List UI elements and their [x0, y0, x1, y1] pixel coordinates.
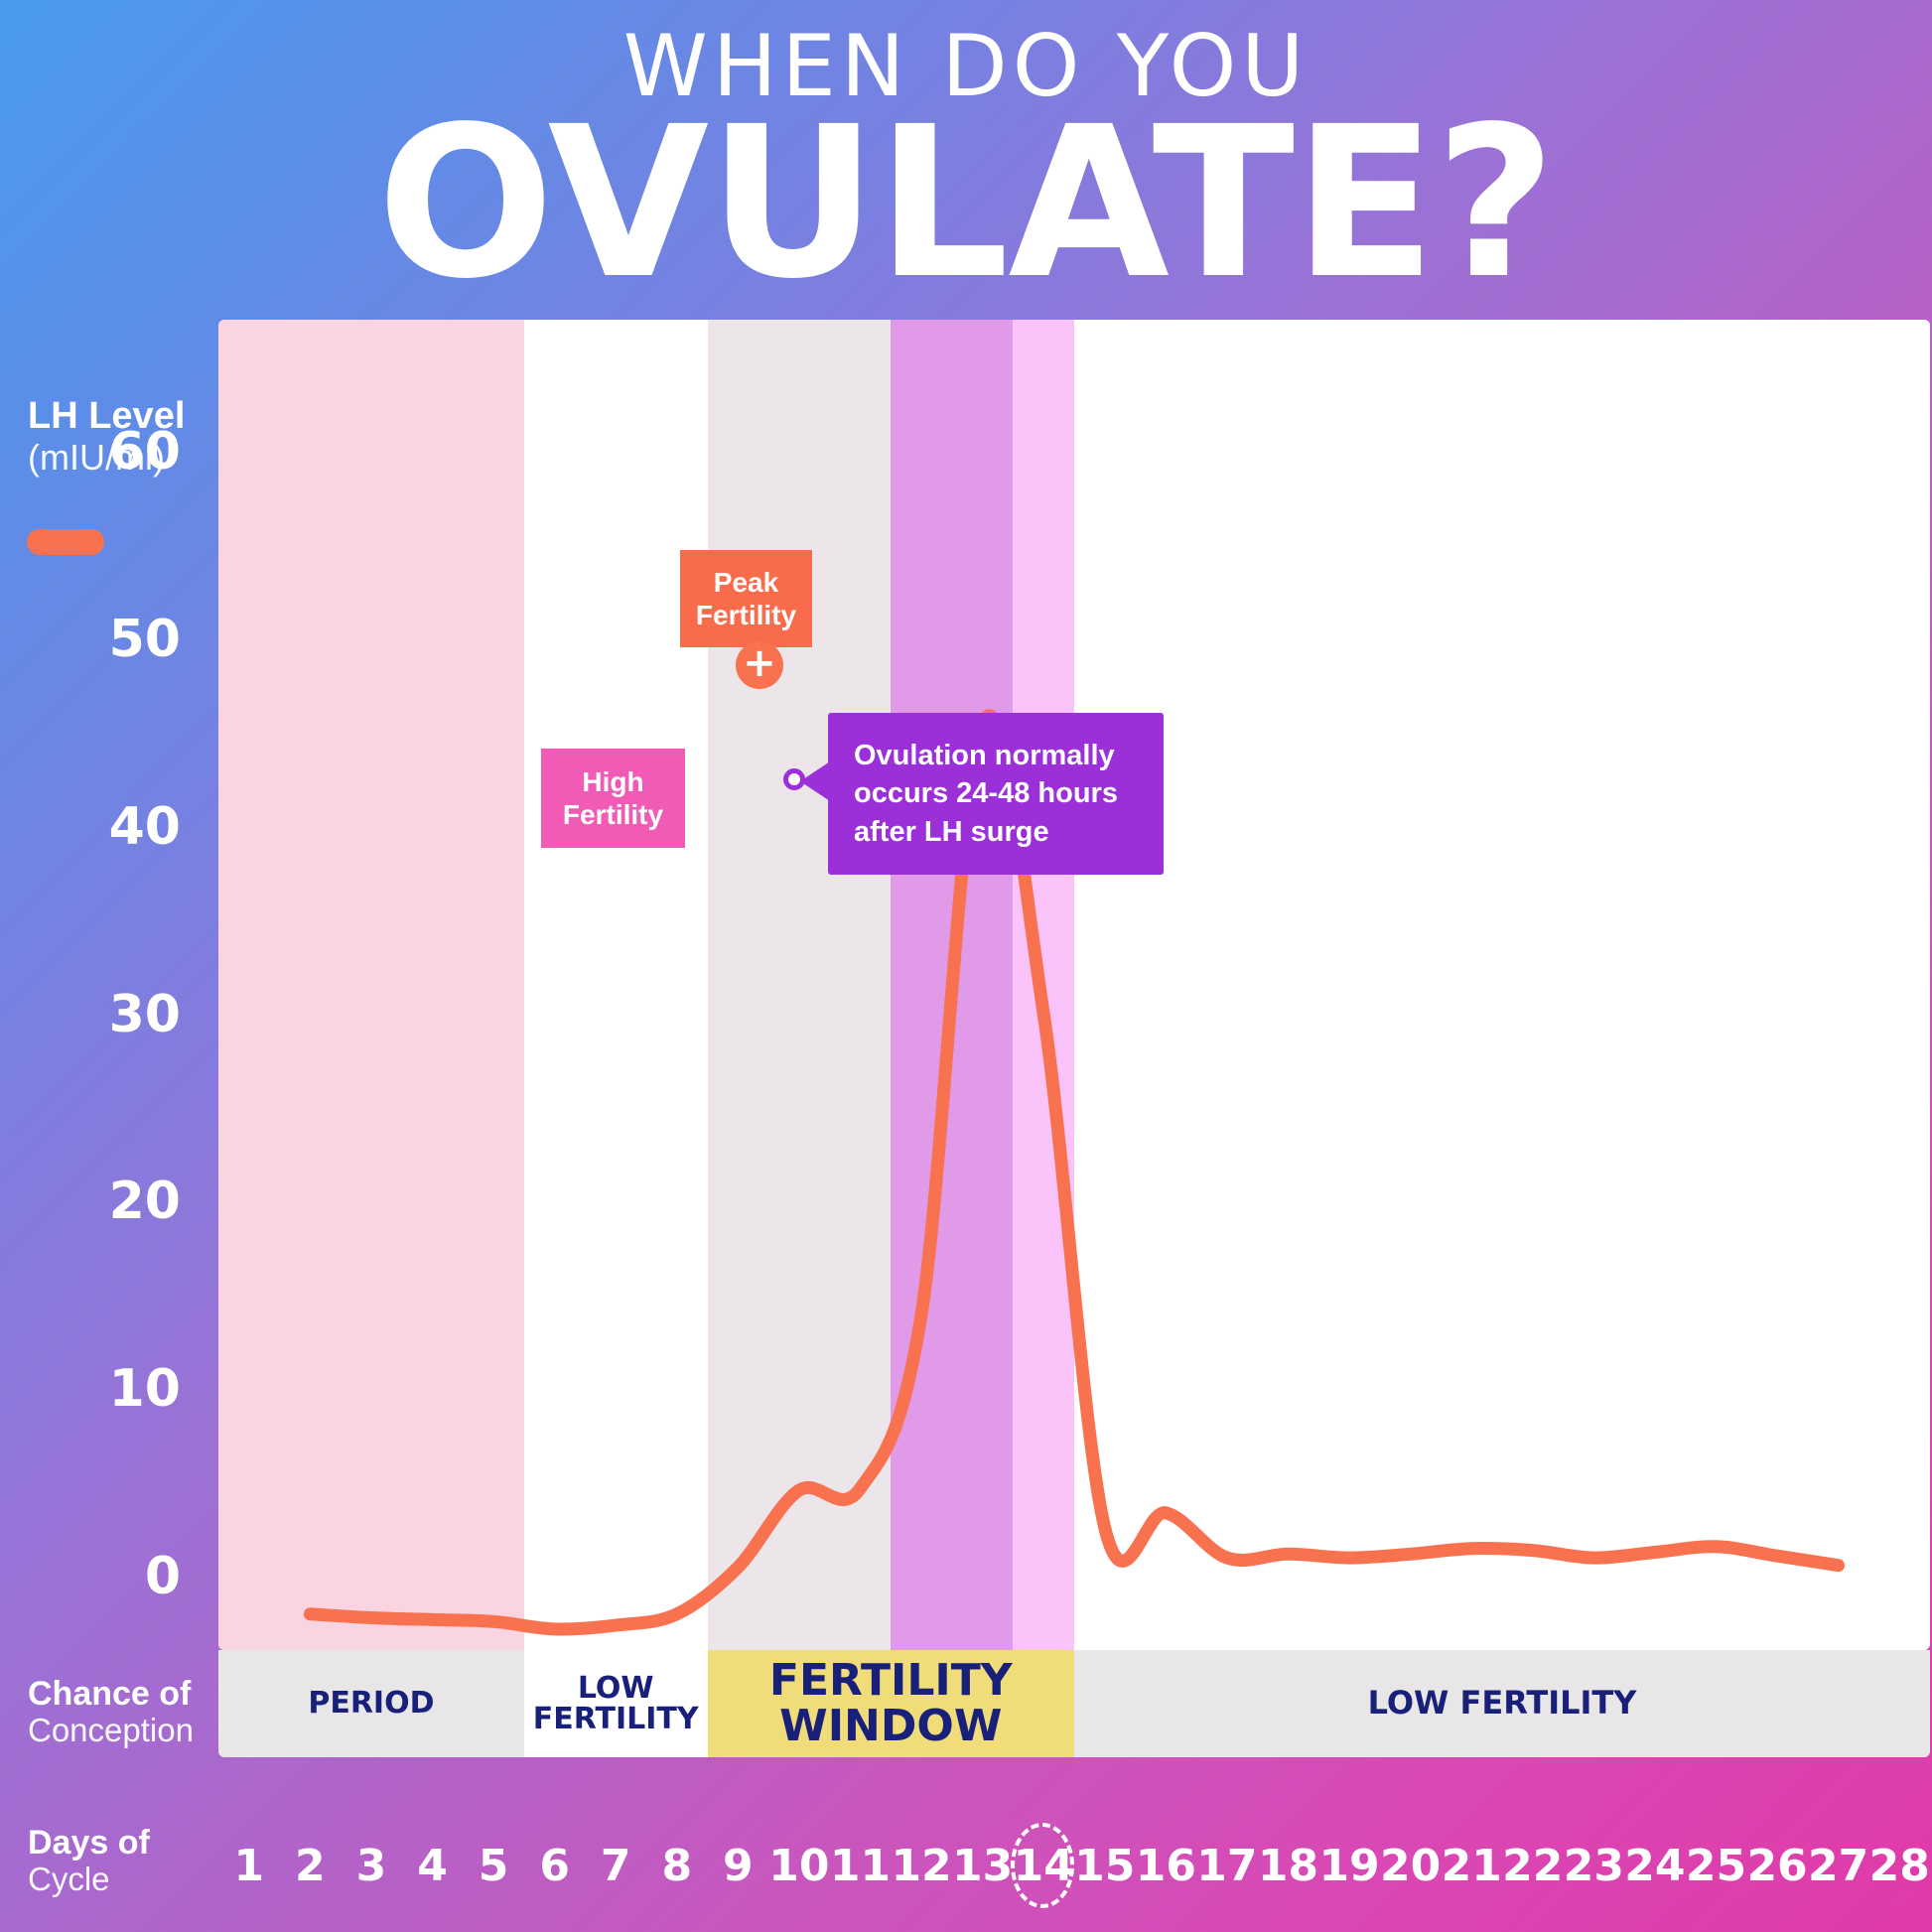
- day-label-28: 28: [1868, 1829, 1930, 1902]
- days-axis-label: Days of Cycle: [28, 1825, 216, 1898]
- day-label-26: 26: [1746, 1829, 1808, 1902]
- day-label-1: 1: [218, 1829, 280, 1902]
- high-flag-line1: High: [582, 766, 643, 797]
- day-label-22: 22: [1502, 1829, 1564, 1902]
- y-tick-60: 60: [109, 422, 181, 482]
- conception-strip: PERIODLOWFERTILITYFERTILITYWINDOWLOW FER…: [218, 1650, 1930, 1757]
- peak-flag-line2: Fertility: [696, 600, 796, 630]
- peak-fertility-flag: Peak Fertility: [680, 550, 812, 647]
- conception-segment-label: LOWFERTILITY: [533, 1673, 699, 1735]
- day-label-9: 9: [707, 1829, 768, 1902]
- conception-segment-2: LOWFERTILITY: [524, 1650, 708, 1757]
- day-label-27: 27: [1808, 1829, 1869, 1902]
- day-label-17: 17: [1196, 1829, 1258, 1902]
- peak-flag-line1: Peak: [714, 567, 778, 598]
- day-label-4: 4: [402, 1829, 464, 1902]
- days-of-cycle-row: 1234567891011121314151617181920212223242…: [218, 1829, 1930, 1918]
- days-label-line1: Days of: [28, 1825, 216, 1862]
- day-label-11: 11: [830, 1829, 892, 1902]
- day-label-16: 16: [1135, 1829, 1196, 1902]
- day-label-10: 10: [768, 1829, 830, 1902]
- conception-segment-label: FERTILITYWINDOW: [769, 1658, 1013, 1749]
- callout-line3: after LH surge: [854, 813, 1138, 851]
- peak-marker-icon: +: [736, 641, 783, 689]
- y-tick-20: 20: [109, 1172, 181, 1231]
- day-label-20: 20: [1380, 1829, 1442, 1902]
- day-label-8: 8: [646, 1829, 708, 1902]
- day-label-7: 7: [585, 1829, 646, 1902]
- day-label-24: 24: [1624, 1829, 1686, 1902]
- conception-segment-label: LOW FERTILITY: [1368, 1687, 1637, 1721]
- plus-icon: +: [743, 643, 776, 683]
- day-label-21: 21: [1441, 1829, 1502, 1902]
- y-tick-10: 10: [109, 1359, 181, 1419]
- day-label-3: 3: [341, 1829, 402, 1902]
- callout-line1: Ovulation normally: [854, 737, 1138, 774]
- day-label-6: 6: [524, 1829, 586, 1902]
- high-fertility-flag: High Fertility: [541, 749, 685, 848]
- conception-segment-label: PERIOD: [308, 1688, 434, 1720]
- y-tick-40: 40: [109, 797, 181, 857]
- day-label-14: 14: [1013, 1829, 1074, 1902]
- day-label-15: 15: [1074, 1829, 1136, 1902]
- ovulation-callout: Ovulation normally occurs 24-48 hours af…: [828, 713, 1164, 875]
- title-block: WHEN DO YOU OVULATE?: [0, 22, 1932, 304]
- conception-segment-3: FERTILITYWINDOW: [708, 1650, 1074, 1757]
- y-axis-ticks: 6050403020100: [0, 320, 199, 1650]
- conception-segment-4: LOW FERTILITY: [1074, 1650, 1930, 1757]
- conception-axis-label: Chance of Conception: [28, 1676, 216, 1749]
- day-label-12: 12: [891, 1829, 952, 1902]
- conception-label-line2: Conception: [28, 1713, 216, 1748]
- day-label-19: 19: [1318, 1829, 1380, 1902]
- conception-label-line1: Chance of: [28, 1676, 216, 1713]
- day-label-23: 23: [1563, 1829, 1624, 1902]
- day-label-25: 25: [1686, 1829, 1747, 1902]
- lh-level-curve: [218, 320, 1930, 1650]
- y-tick-30: 30: [109, 985, 181, 1044]
- lh-chart-plot-area: Peak Fertility High Fertility + Ovulatio…: [218, 320, 1930, 1650]
- conception-segment-1: PERIOD: [218, 1650, 524, 1757]
- day-label-2: 2: [279, 1829, 341, 1902]
- y-tick-0: 0: [145, 1547, 181, 1606]
- day-label-13: 13: [952, 1829, 1014, 1902]
- callout-arrow-icon: [800, 761, 830, 801]
- page-title: OVULATE?: [0, 103, 1932, 304]
- day-label-18: 18: [1258, 1829, 1319, 1902]
- days-label-line2: Cycle: [28, 1862, 216, 1897]
- day-label-5: 5: [463, 1829, 524, 1902]
- high-flag-line2: Fertility: [563, 799, 663, 830]
- y-tick-50: 50: [109, 610, 181, 669]
- callout-line2: occurs 24-48 hours: [854, 774, 1138, 812]
